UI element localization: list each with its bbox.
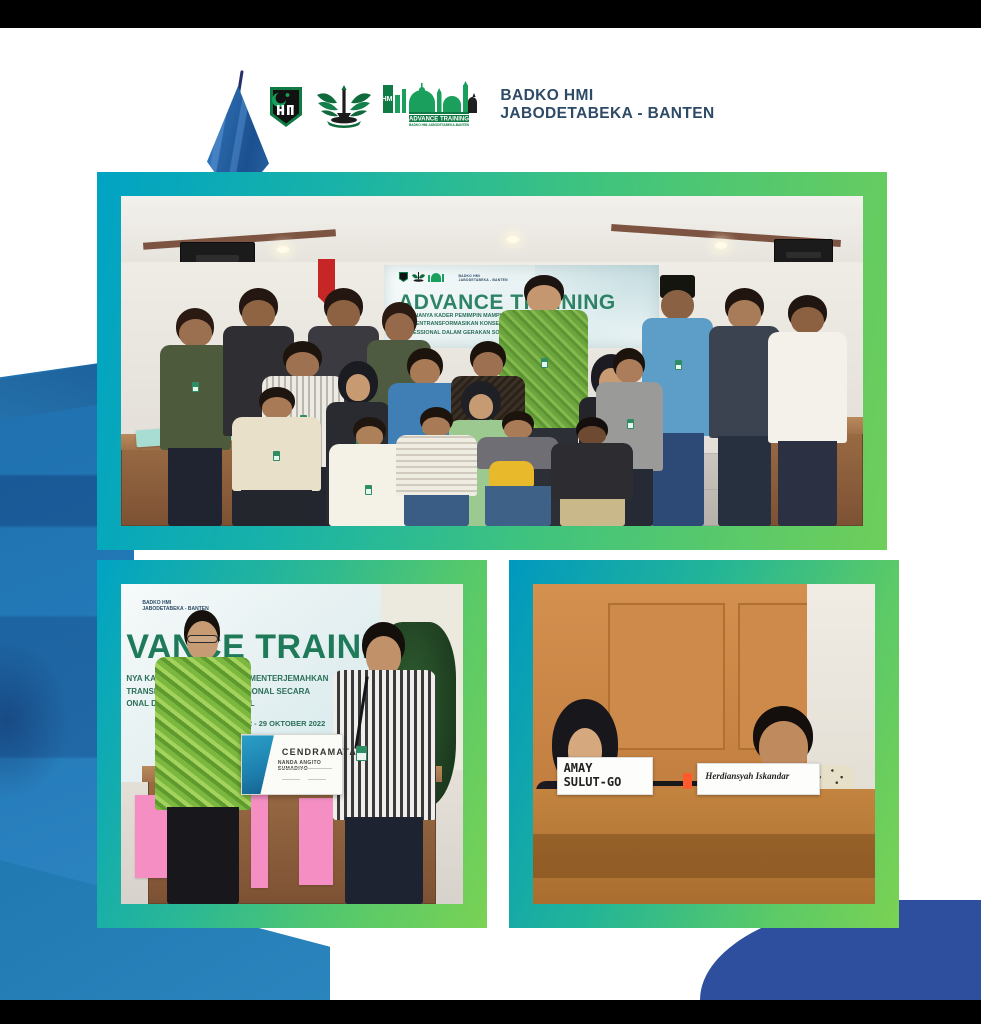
group-photo-frame: BADKO HMI JABODETABEKA - BANTEN ADVANCE …: [97, 172, 887, 550]
certificate-wave-graphic: [242, 735, 274, 794]
hmi-shield-logo: [266, 85, 306, 129]
nameplate-amay: AMAY SULUT-GO: [557, 757, 653, 795]
logo-group: HMI ADVANCE TRAINING BADKO HMI JABODETAB…: [266, 81, 486, 129]
poster-canvas: HMI ADVANCE TRAINING BADKO HMI JABODETAB…: [0, 0, 981, 1024]
certificate-photo-image: BADKO HMI JABODETABEKA - BANTEN VANCE TR…: [121, 584, 463, 904]
brand-line-1: BADKO HMI: [500, 87, 714, 105]
brand-line-2: JABODETABEKA - BANTEN: [500, 105, 714, 123]
nameplate-amay-line-2: SULUT-GO: [564, 775, 622, 789]
nameplate-herdiansyah-line-1: Herdiansyah Iskandar: [705, 771, 789, 781]
ceiling-spotlight-1: [277, 246, 289, 253]
nameplate-herdiansyah: Herdiansyah Iskandar: [697, 763, 820, 795]
svg-text:BADKO HMI JABODETABEKA-BANTEN: BADKO HMI JABODETABEKA-BANTEN: [409, 123, 470, 127]
pink-note-3: [251, 795, 268, 888]
nameplate-amay-line-1: AMAY: [564, 761, 593, 775]
advance-training-logo: HMI ADVANCE TRAINING BADKO HMI JABODETAB…: [382, 81, 486, 129]
participant-front-yellow: [477, 411, 559, 527]
banner-logo: [398, 271, 444, 283]
panel-photo-frame: AMAY SULUT-GO Herdiansyah Iskandar: [509, 560, 899, 928]
certificate-scene: BADKO HMI JABODETABEKA - BANTEN VANCE TR…: [121, 584, 463, 904]
ceiling-spotlight-2: [507, 236, 519, 243]
cert-banner-date: 22 - 29 OKTOBER 2022: [244, 719, 326, 728]
participant-front-cream: [232, 387, 321, 526]
poster-header: HMI ADVANCE TRAINING BADKO HMI JABODETAB…: [0, 72, 981, 138]
svg-text:ADVANCE TRAINING: ADVANCE TRAINING: [409, 117, 469, 123]
certificate-heading: CENDRAMATA: [282, 747, 357, 757]
name-badge: [356, 746, 367, 761]
panel-desk-shadow: [533, 834, 875, 879]
brand-title: BADKO HMI JABODETABEKA - BANTEN: [500, 87, 714, 123]
letterbox-bar-bottom: [0, 1000, 981, 1024]
svg-text:HMI: HMI: [382, 96, 394, 103]
souvenir-certificate: CENDRAMATA NANDA ANGITO SUMADIYO: [241, 734, 344, 795]
participant-front-dark: [551, 417, 633, 526]
certificate-photo-frame: BADKO HMI JABODETABEKA - BANTEN VANCE TR…: [97, 560, 487, 928]
participant-front-check: [396, 407, 478, 526]
certificate-recipient-name: NANDA ANGITO SUMADIYO: [278, 760, 342, 772]
panel-photo-image: AMAY SULUT-GO Herdiansyah Iskandar: [533, 584, 875, 904]
presenter-green-batik: [155, 610, 251, 904]
seminar-room-scene: BADKO HMI JABODETABEKA - BANTEN ADVANCE …: [121, 196, 863, 526]
ceiling-spotlight-3: [715, 242, 727, 249]
panel-room-scene: AMAY SULUT-GO Herdiansyah Iskandar: [533, 584, 875, 904]
presenter-glasses-icon: [187, 635, 219, 644]
recipient-participant: [333, 622, 436, 904]
pink-note-4: [299, 798, 333, 884]
hmi-monas-crest-logo: [315, 83, 373, 129]
microphone-clip: [683, 773, 692, 789]
letterbox-bar-top: [0, 0, 981, 28]
participant-back-white-shirt: [767, 295, 849, 526]
group-photo-image: BADKO HMI JABODETABEKA - BANTEN ADVANCE …: [121, 196, 863, 526]
decorative-blue-left-shadow: [0, 640, 70, 800]
